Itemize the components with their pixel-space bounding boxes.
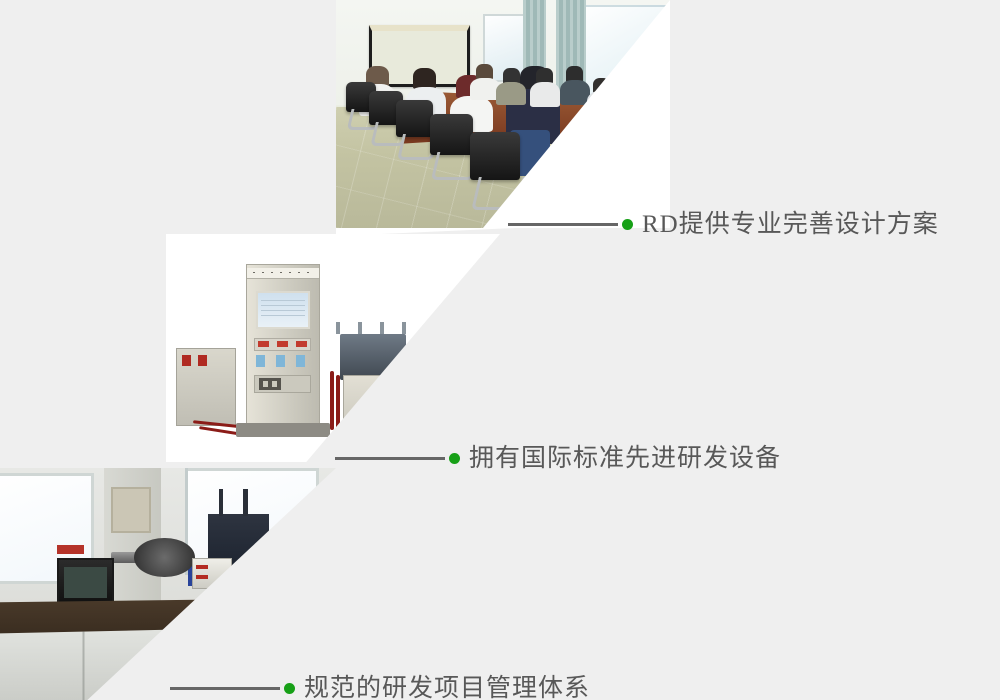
mobile-cabinet	[343, 375, 410, 434]
feature-caption-rd-equipment: 拥有国际标准先进研发设备	[335, 446, 781, 471]
connector-line	[335, 457, 445, 460]
bullet-dot-icon	[284, 683, 295, 694]
power-supply-unit	[176, 348, 236, 426]
feature-caption-rd-management: 规范的研发项目管理体系	[170, 676, 590, 700]
bullet-dot-icon	[449, 453, 460, 464]
feature-caption-text: 规范的研发项目管理体系	[304, 676, 590, 700]
feature-caption-rd-design: RD提供专业完善设计方案	[508, 212, 939, 237]
connector-line	[170, 687, 280, 690]
connector-line	[508, 223, 618, 226]
test-equipment-photo-image	[166, 234, 500, 462]
test-equipment-photo	[166, 234, 500, 462]
feature-caption-text: 拥有国际标准先进研发设备	[469, 446, 781, 471]
meeting-room-photo-image	[336, 0, 670, 228]
bullet-dot-icon	[622, 219, 633, 230]
test-fixture	[340, 334, 407, 380]
feature-showcase-stage: RD提供专业完善设计方案 拥有国际标准先进研发设备	[0, 0, 1000, 700]
feature-caption-text: RD提供专业完善设计方案	[642, 212, 939, 237]
lab-bench-photo-image	[0, 468, 336, 700]
lab-bench-photo	[0, 468, 336, 700]
instrument-rack	[246, 264, 319, 428]
meeting-room-photo	[336, 0, 670, 228]
